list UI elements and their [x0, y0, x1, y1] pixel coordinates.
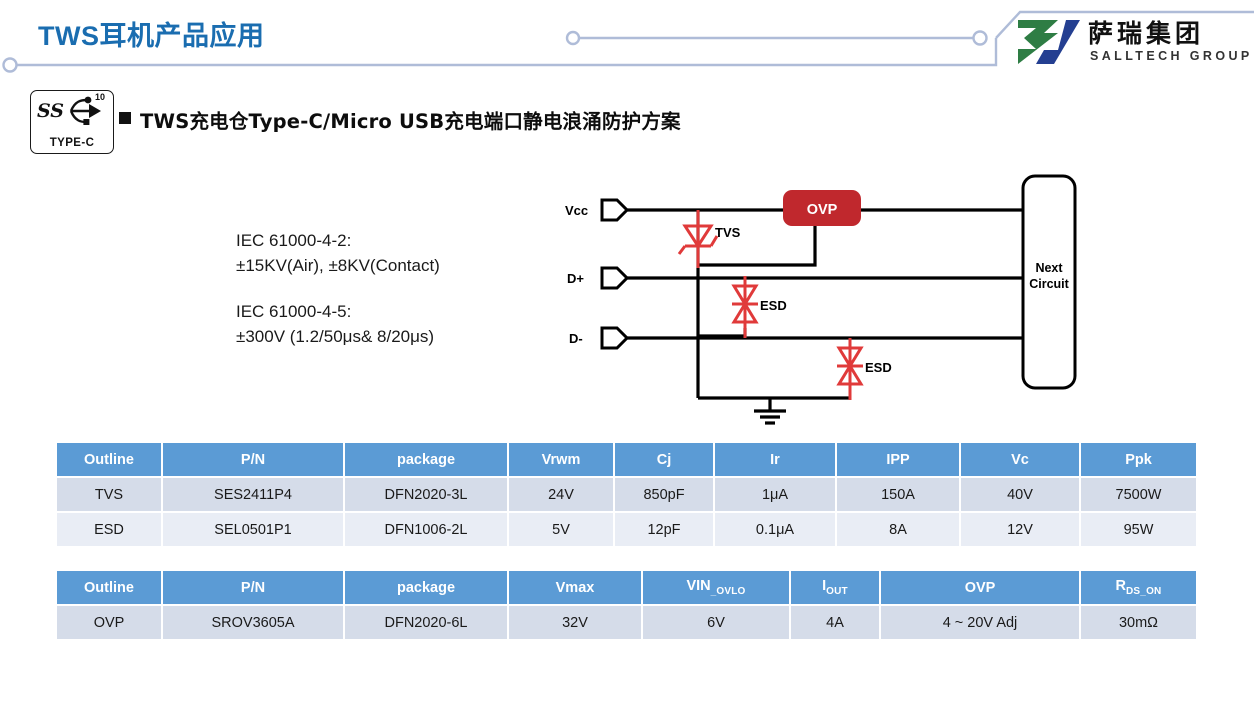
- next-circuit-label-2: Circuit: [1029, 277, 1069, 291]
- port-label-dm: D-: [569, 331, 583, 346]
- table-row: TVS SES2411P4 DFN2020-3L 24V 850pF 1μA 1…: [57, 477, 1196, 512]
- cell-package: DFN2020-6L: [344, 605, 508, 640]
- tvs-diode-symbol: [679, 210, 717, 268]
- cell-pn: SEL0501P1: [162, 512, 344, 547]
- next-circuit-label-1: Next: [1035, 261, 1063, 275]
- tvs-label: TVS: [715, 225, 741, 240]
- col-header-cj[interactable]: Cj: [614, 443, 714, 477]
- cell-vrwm: 24V: [508, 477, 614, 512]
- cell-ovp: 4 ~ 20V Adj: [880, 605, 1080, 640]
- cell-cj: 850pF: [614, 477, 714, 512]
- col-header-vrwm[interactable]: Vrwm: [508, 443, 614, 477]
- col-header-vmax[interactable]: Vmax: [508, 571, 642, 605]
- col-header-ir[interactable]: Ir: [714, 443, 836, 477]
- cell-outline: OVP: [57, 605, 162, 640]
- table-tvs-esd-specs: Outline P/N package Vrwm Cj Ir IPP Vc Pp…: [57, 443, 1196, 548]
- deco-circle-left: [4, 59, 17, 72]
- circuit-port-connectors: [602, 200, 627, 348]
- cell-package: DFN2020-3L: [344, 477, 508, 512]
- col-header-pn[interactable]: P/N: [162, 571, 344, 605]
- col-header-ppk[interactable]: Ppk: [1080, 443, 1196, 477]
- table-header-row: Outline P/N package Vrwm Cj Ir IPP Vc Pp…: [57, 443, 1196, 477]
- cell-outline: ESD: [57, 512, 162, 547]
- ovp-block-label: OVP: [807, 202, 838, 218]
- col-header-vin-sub: _OVLO: [711, 586, 746, 597]
- cell-ir: 1μA: [714, 477, 836, 512]
- type-c-caption: TYPE-C: [31, 137, 113, 149]
- col-header-rds-on[interactable]: RDS_ON: [1080, 571, 1196, 605]
- cell-cj: 12pF: [614, 512, 714, 547]
- col-header-rds-main: R: [1116, 578, 1126, 594]
- page-title: TWS耳机产品应用: [38, 14, 265, 53]
- cell-ipp: 150A: [836, 477, 960, 512]
- col-header-outline[interactable]: Outline: [57, 571, 162, 605]
- gnd-symbol: [754, 411, 786, 423]
- col-header-rds-sub: DS_ON: [1126, 586, 1161, 597]
- deco-circle-right: [974, 32, 987, 45]
- col-header-ipp[interactable]: IPP: [836, 443, 960, 477]
- type-c-badge: SS 10 TYPE-C: [30, 90, 114, 154]
- brand-logo: 萨瑞集团 SALLTECH GROUP: [1014, 16, 1244, 74]
- cell-package: DFN1006-2L: [344, 512, 508, 547]
- table-header-row: Outline P/N package Vmax VIN_OVLO IOUT O…: [57, 571, 1196, 605]
- col-header-package[interactable]: package: [344, 571, 508, 605]
- esd-diode-symbol-1: [732, 276, 758, 338]
- cell-pn: SROV3605A: [162, 605, 344, 640]
- esd-label-2: ESD: [865, 360, 892, 375]
- cell-vrwm: 5V: [508, 512, 614, 547]
- col-header-pn[interactable]: P/N: [162, 443, 344, 477]
- section-heading: TWS充电仓Type-C/Micro USB充电端口静电浪涌防护方案: [140, 105, 681, 134]
- port-label-vcc: Vcc: [565, 203, 588, 218]
- brand-name-cn: 萨瑞集团: [1088, 14, 1204, 50]
- spec-line-3: IEC 61000-4-5:: [236, 299, 536, 324]
- port-label-dp: D+: [567, 271, 584, 286]
- usb-speed-label: 10: [95, 92, 105, 102]
- cell-ppk: 7500W: [1080, 477, 1196, 512]
- cell-ipp: 8A: [836, 512, 960, 547]
- col-header-package[interactable]: package: [344, 443, 508, 477]
- col-header-outline[interactable]: Outline: [57, 443, 162, 477]
- cell-iout: 4A: [790, 605, 880, 640]
- brand-name-en: SALLTECH GROUP: [1090, 49, 1253, 63]
- esd-label-1: ESD: [760, 298, 787, 313]
- cell-vin-ovlo: 6V: [642, 605, 790, 640]
- col-header-vin-main: VIN: [686, 578, 710, 594]
- cell-vmax: 32V: [508, 605, 642, 640]
- salltech-mark-icon: [1014, 16, 1084, 68]
- cell-ir: 0.1μA: [714, 512, 836, 547]
- cell-ppk: 95W: [1080, 512, 1196, 547]
- svg-text:SS: SS: [37, 100, 64, 122]
- table-ovp-specs: Outline P/N package Vmax VIN_OVLO IOUT O…: [57, 571, 1196, 641]
- spec-spacer: [236, 278, 536, 299]
- spec-line-1: IEC 61000-4-2:: [236, 228, 536, 253]
- cell-vc: 40V: [960, 477, 1080, 512]
- col-header-vin-ovlo[interactable]: VIN_OVLO: [642, 571, 790, 605]
- esd-diode-symbol-2: [837, 338, 863, 400]
- deco-circle-mid: [567, 32, 579, 44]
- col-header-ovp[interactable]: OVP: [880, 571, 1080, 605]
- cell-rds-on: 30mΩ: [1080, 605, 1196, 640]
- usb-superspeed-icon: SS 10: [31, 91, 109, 135]
- col-header-iout[interactable]: IOUT: [790, 571, 880, 605]
- spec-line-2: ±15KV(Air), ±8KV(Contact): [236, 253, 536, 278]
- port-shape-dm: [602, 328, 627, 348]
- table-row: ESD SEL0501P1 DFN1006-2L 5V 12pF 0.1μA 8…: [57, 512, 1196, 547]
- col-header-vc[interactable]: Vc: [960, 443, 1080, 477]
- port-shape-dp: [602, 268, 627, 288]
- port-shape-vcc: [602, 200, 627, 220]
- col-header-iout-sub: OUT: [826, 586, 848, 597]
- cell-vc: 12V: [960, 512, 1080, 547]
- cell-pn: SES2411P4: [162, 477, 344, 512]
- spec-line-4: ±300V (1.2/50μs& 8/20μs): [236, 324, 536, 349]
- protection-circuit-diagram: Vcc D+ D- TVS ESD ESD OVP: [545, 168, 1105, 428]
- circuit-wires: [620, 210, 1025, 411]
- iec-spec-text: IEC 61000-4-2: ±15KV(Air), ±8KV(Contact)…: [236, 228, 536, 349]
- cell-outline: TVS: [57, 477, 162, 512]
- table-row: OVP SROV3605A DFN2020-6L 32V 6V 4A 4 ~ 2…: [57, 605, 1196, 640]
- slide-root: TWS耳机产品应用 萨瑞集团 SALLTECH GROUP SS 10 TYPE…: [0, 0, 1254, 703]
- section-bullet-marker: [119, 112, 131, 124]
